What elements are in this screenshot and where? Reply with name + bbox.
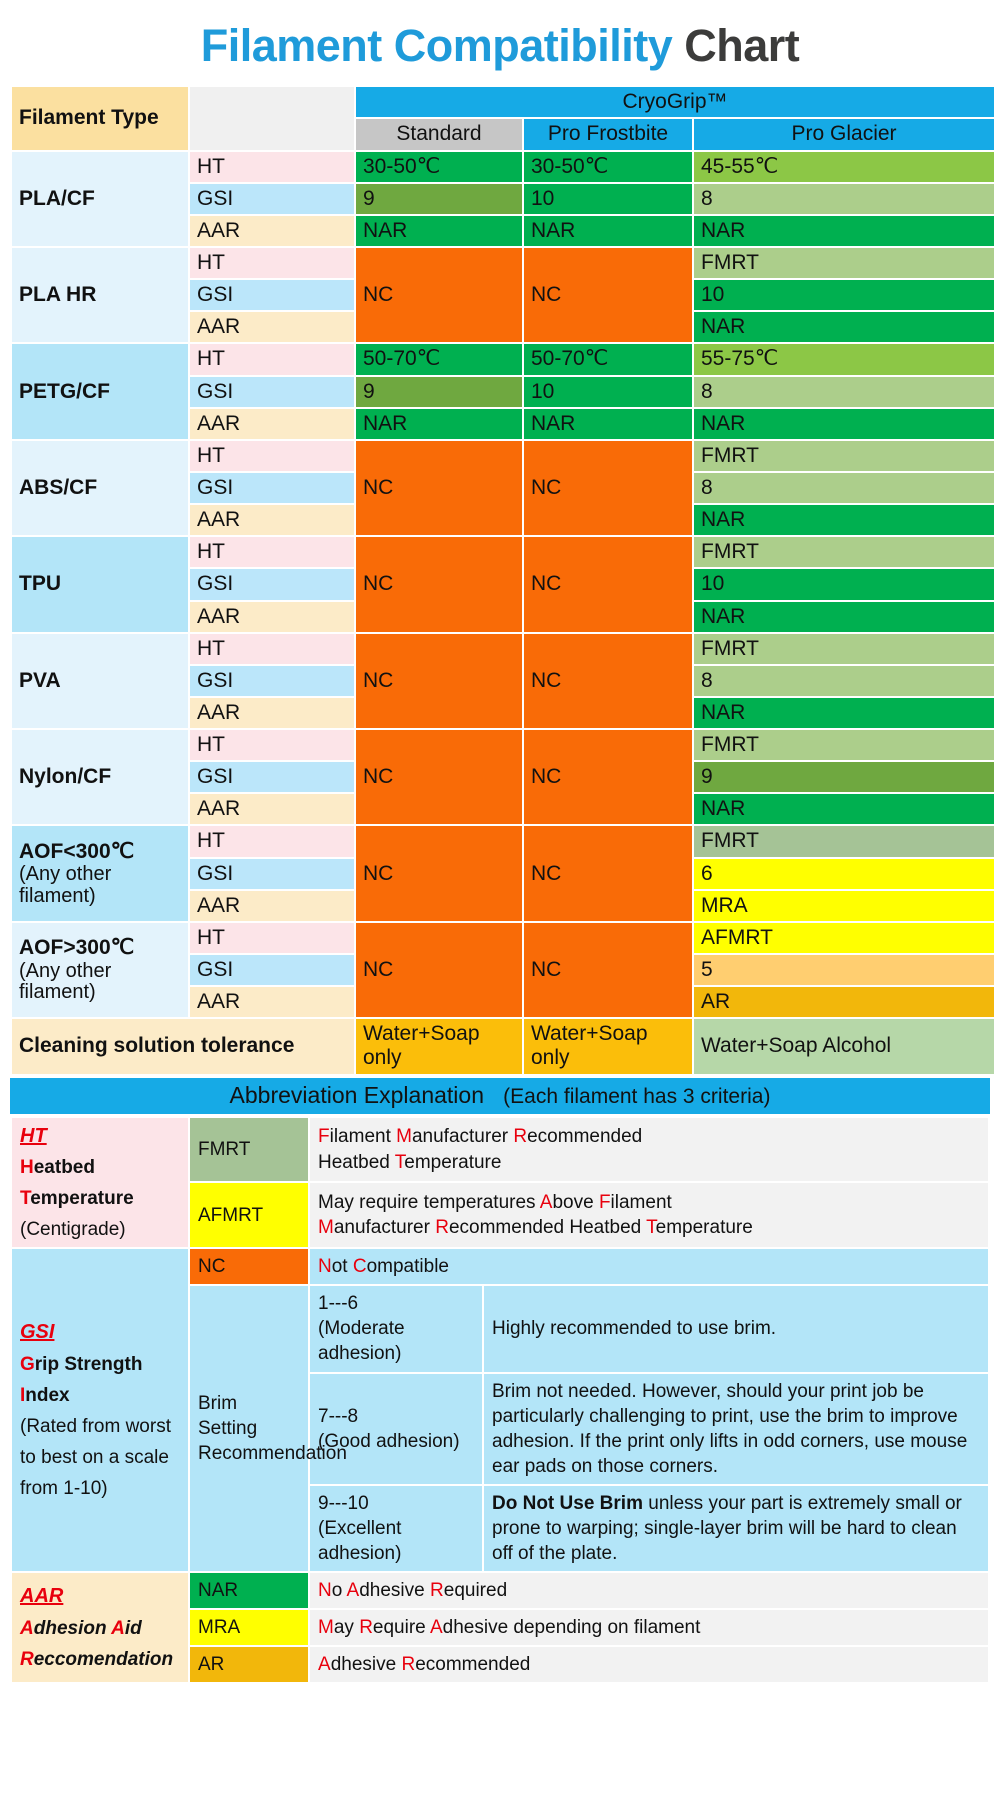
criteria-aar: AAR — [190, 794, 354, 824]
abbr-category-line5: from 1-10) — [20, 1476, 180, 1501]
abbr-desc-ar: Adhesive Recommended — [310, 1647, 988, 1682]
abbr-gsi-range-value: 7---8 — [318, 1404, 474, 1429]
cell-value: FMRT — [694, 441, 994, 471]
header-filament-type: Filament Type — [12, 87, 188, 149]
abbr-desc-nar: No Adhesive Required — [310, 1573, 988, 1608]
table-row: PLA HR HT NC NC FMRT — [12, 248, 994, 278]
cell-value: FMRT — [694, 730, 994, 760]
cell-value-nc: NC — [356, 634, 522, 728]
cell-value: 50-70℃ — [356, 344, 522, 374]
abbr-category-line1: Grip Strength — [20, 1352, 180, 1377]
abbr-gsi-range-quality: (Good adhesion) — [318, 1429, 474, 1454]
table-row: PETG/CF HT 50-70℃ 50-70℃ 55-75℃ — [12, 344, 994, 374]
cell-value: 9 — [356, 184, 522, 214]
abbr-category-line2: Temperature — [20, 1186, 180, 1211]
cell-value: 8 — [694, 473, 994, 503]
abbr-row-nc: GSI Grip Strength Index (Rated from wors… — [12, 1249, 988, 1284]
criteria-gsi: GSI — [190, 762, 354, 792]
criteria-gsi: GSI — [190, 955, 354, 985]
abbreviation-bar-note: (Each filament has 3 criteria) — [503, 1085, 770, 1108]
criteria-ht: HT — [190, 441, 354, 471]
abbr-category-gsi: GSI Grip Strength Index (Rated from wors… — [12, 1249, 188, 1571]
cell-value-nc: NC — [524, 248, 692, 342]
abbr-gsi-range: 1---6 (Moderate adhesion) — [310, 1286, 482, 1371]
cleaning-solution-pro-glacier: Water+Soap Alcohol — [694, 1019, 994, 1073]
cell-value-nc: NC — [524, 730, 692, 824]
table-row: TPU HT NC NC FMRT — [12, 537, 994, 567]
title-suffix: Chart — [684, 20, 799, 71]
abbr-gsi-desc: Highly recommended to use brim. — [484, 1286, 988, 1371]
cell-value: 30-50℃ — [356, 152, 522, 182]
filament-label-nylon-cf: Nylon/CF — [12, 730, 188, 824]
abbr-desc-mra: May Require Adhesive depending on filame… — [310, 1610, 988, 1645]
abbr-gsi-range: 9---10 (Excellentadhesion) — [310, 1486, 482, 1571]
cell-value-nc: NC — [356, 730, 522, 824]
cell-value: 10 — [524, 377, 692, 407]
abbr-tag-fmrt: FMRT — [190, 1118, 308, 1182]
cell-value: NAR — [356, 216, 522, 246]
header-product-pro-glacier: Pro Glacier — [694, 119, 994, 149]
cell-value: NAR — [694, 409, 994, 439]
abbreviation-explanation-bar: Abbreviation Explanation (Each filament … — [10, 1078, 990, 1114]
abbr-row-fmrt: HT Heatbed Temperature (Centigrade) FMRT… — [12, 1118, 988, 1182]
cell-value: 10 — [524, 184, 692, 214]
abbr-category-code: HT — [20, 1123, 180, 1149]
cell-value: 9 — [356, 377, 522, 407]
table-row: Nylon/CF HT NC NC FMRT — [12, 730, 994, 760]
header-product-standard: Standard — [356, 119, 522, 149]
abbr-gsi-range-quality: (Excellentadhesion) — [318, 1516, 474, 1566]
header-criteria-blank — [190, 87, 354, 149]
criteria-gsi: GSI — [190, 569, 354, 599]
abbr-gsi-range: 7---8 (Good adhesion) — [310, 1374, 482, 1484]
abbr-category-line1: Heatbed — [20, 1155, 180, 1180]
criteria-ht: HT — [190, 826, 354, 856]
filament-label-tpu: TPU — [12, 537, 188, 631]
abbr-gsi-range-value: 1---6 — [318, 1291, 474, 1316]
criteria-aar: AAR — [190, 312, 354, 342]
criteria-gsi: GSI — [190, 859, 354, 889]
title-highlight: Filament Compatibility — [201, 20, 673, 71]
abbr-tag-nar: NAR — [190, 1573, 308, 1608]
cell-value: 8 — [694, 184, 994, 214]
cell-value: NAR — [694, 794, 994, 824]
cell-value: 10 — [694, 280, 994, 310]
cell-value: NAR — [524, 409, 692, 439]
table-row: PLA/CF HT 30-50℃ 30-50℃ 45-55℃ — [12, 152, 994, 182]
criteria-ht: HT — [190, 537, 354, 567]
abbr-brim-setting-label: Brim Setting Recommendation — [190, 1286, 308, 1571]
cell-value: 6 — [694, 859, 994, 889]
criteria-ht: HT — [190, 344, 354, 374]
abbr-category-aar: AAR Adhesion Aid Reccomendation — [12, 1573, 188, 1682]
cell-value: FMRT — [694, 248, 994, 278]
criteria-aar: AAR — [190, 698, 354, 728]
abbr-row-nar: AAR Adhesion Aid Reccomendation NAR No A… — [12, 1573, 988, 1608]
cleaning-solution-standard: Water+Soap only — [356, 1019, 522, 1073]
cleaning-solution-label: Cleaning solution tolerance — [12, 1019, 354, 1073]
abbr-gsi-range-value: 9---10 — [318, 1491, 474, 1516]
filament-label-pva: PVA — [12, 634, 188, 728]
criteria-aar: AAR — [190, 409, 354, 439]
cell-value: NAR — [694, 312, 994, 342]
cell-value: 8 — [694, 666, 994, 696]
filament-label-pla-cf: PLA/CF — [12, 152, 188, 246]
criteria-aar: AAR — [190, 987, 354, 1017]
abbr-gsi-desc: Do Not Use Brim unless your part is extr… — [484, 1486, 988, 1571]
abbr-desc-fmrt: Filament Manufacturer Recommended Heatbe… — [310, 1118, 988, 1182]
filament-label-pla-hr: PLA HR — [12, 248, 188, 342]
cell-value: 8 — [694, 377, 994, 407]
abbr-desc-nc: Not Compatible — [310, 1249, 988, 1284]
cell-value: NAR — [694, 698, 994, 728]
cell-value-nc: NC — [524, 537, 692, 631]
filament-label-sub: (Any other filament) — [19, 864, 181, 907]
cell-value-nc: NC — [356, 537, 522, 631]
criteria-ht: HT — [190, 152, 354, 182]
page-title: Filament Compatibility Chart — [0, 0, 1000, 85]
header-product-pro-frostbite: Pro Frostbite — [524, 119, 692, 149]
abbr-category-line3: (Centigrade) — [20, 1217, 180, 1242]
cell-value: NAR — [694, 602, 994, 632]
cell-value: NAR — [694, 216, 994, 246]
abbr-category-code: AAR — [20, 1583, 180, 1609]
filament-label-abs-cf: ABS/CF — [12, 441, 188, 535]
compatibility-table: Filament Type CryoGrip™ Standard Pro Fro… — [10, 85, 996, 1075]
filament-label-main: AOF>300℃ — [19, 936, 134, 959]
abbr-desc-afmrt: May require temperatures Above Filament … — [310, 1183, 988, 1247]
cell-value-nc: NC — [524, 826, 692, 920]
abbr-tag-afmrt: AFMRT — [190, 1183, 308, 1247]
abbreviation-bar-title: Abbreviation Explanation — [230, 1082, 484, 1108]
cell-value-nc: NC — [356, 441, 522, 535]
cell-value-nc: NC — [356, 923, 522, 1017]
cell-value: 5 — [694, 955, 994, 985]
cell-value-nc: NC — [524, 923, 692, 1017]
cleaning-solution-pro-frostbite: Water+Soap only — [524, 1019, 692, 1073]
table-row: AOF<300℃ (Any other filament) HT NC NC F… — [12, 826, 994, 856]
criteria-aar: AAR — [190, 891, 354, 921]
abbr-category-line2: Index — [20, 1383, 180, 1408]
cell-value-nc: NC — [524, 634, 692, 728]
cell-value: NAR — [356, 409, 522, 439]
criteria-gsi: GSI — [190, 666, 354, 696]
filament-label-petg-cf: PETG/CF — [12, 344, 188, 438]
table-row: ABS/CF HT NC NC FMRT — [12, 441, 994, 471]
criteria-aar: AAR — [190, 216, 354, 246]
filament-label-aof-lt300: AOF<300℃ (Any other filament) — [12, 826, 188, 920]
filament-label-aof-gt300: AOF>300℃ (Any other filament) — [12, 923, 188, 1017]
cell-value-nc: NC — [524, 441, 692, 535]
table-header-row-brand: Filament Type CryoGrip™ — [12, 87, 994, 117]
criteria-aar: AAR — [190, 505, 354, 535]
filament-compatibility-chart: Filament Compatibility Chart Filament Ty… — [0, 0, 1000, 1684]
abbr-tag-nc: NC — [190, 1249, 308, 1284]
criteria-gsi: GSI — [190, 473, 354, 503]
abbr-category-line4: to best on a scale — [20, 1445, 180, 1470]
cleaning-solution-row: Cleaning solution tolerance Water+Soap o… — [12, 1019, 994, 1073]
cell-value: 30-50℃ — [524, 152, 692, 182]
abbr-tag-ar: AR — [190, 1647, 308, 1682]
cell-value: NAR — [694, 505, 994, 535]
abbr-category-code: GSI — [20, 1319, 180, 1345]
cell-value: 9 — [694, 762, 994, 792]
criteria-ht: HT — [190, 248, 354, 278]
cell-value: 10 — [694, 569, 994, 599]
cell-value: 45-55℃ — [694, 152, 994, 182]
table-row: PVA HT NC NC FMRT — [12, 634, 994, 664]
abbr-category-line1: Adhesion Aid — [20, 1616, 180, 1641]
filament-label-main: AOF<300℃ — [19, 840, 134, 863]
filament-label-sub: (Any other filament) — [19, 961, 181, 1004]
cell-value: FMRT — [694, 826, 994, 856]
criteria-ht: HT — [190, 923, 354, 953]
cell-value-nc: NC — [356, 248, 522, 342]
criteria-gsi: GSI — [190, 184, 354, 214]
cell-value: 55-75℃ — [694, 344, 994, 374]
abbr-gsi-range-quality: (Moderate adhesion) — [318, 1316, 474, 1366]
table-row: AOF>300℃ (Any other filament) HT NC NC A… — [12, 923, 994, 953]
cell-value: FMRT — [694, 537, 994, 567]
cell-value-nc: NC — [356, 826, 522, 920]
criteria-ht: HT — [190, 730, 354, 760]
abbr-category-line2: Reccomendation — [20, 1647, 180, 1672]
criteria-gsi: GSI — [190, 377, 354, 407]
criteria-ht: HT — [190, 634, 354, 664]
abbr-category-line3: (Rated from worst — [20, 1414, 180, 1439]
cell-value: NAR — [524, 216, 692, 246]
abbr-tag-mra: MRA — [190, 1610, 308, 1645]
header-brand-cryogrip: CryoGrip™ — [356, 87, 994, 117]
cell-value: AR — [694, 987, 994, 1017]
cell-value: AFMRT — [694, 923, 994, 953]
abbr-gsi-desc: Brim not needed. However, should your pr… — [484, 1374, 988, 1484]
criteria-aar: AAR — [190, 602, 354, 632]
cell-value: 50-70℃ — [524, 344, 692, 374]
cell-value: FMRT — [694, 634, 994, 664]
abbr-gsi-desc-bold: Do Not Use Brim — [492, 1493, 643, 1514]
criteria-gsi: GSI — [190, 280, 354, 310]
abbreviation-table: HT Heatbed Temperature (Centigrade) FMRT… — [10, 1116, 990, 1685]
abbr-category-ht: HT Heatbed Temperature (Centigrade) — [12, 1118, 188, 1248]
cell-value: MRA — [694, 891, 994, 921]
